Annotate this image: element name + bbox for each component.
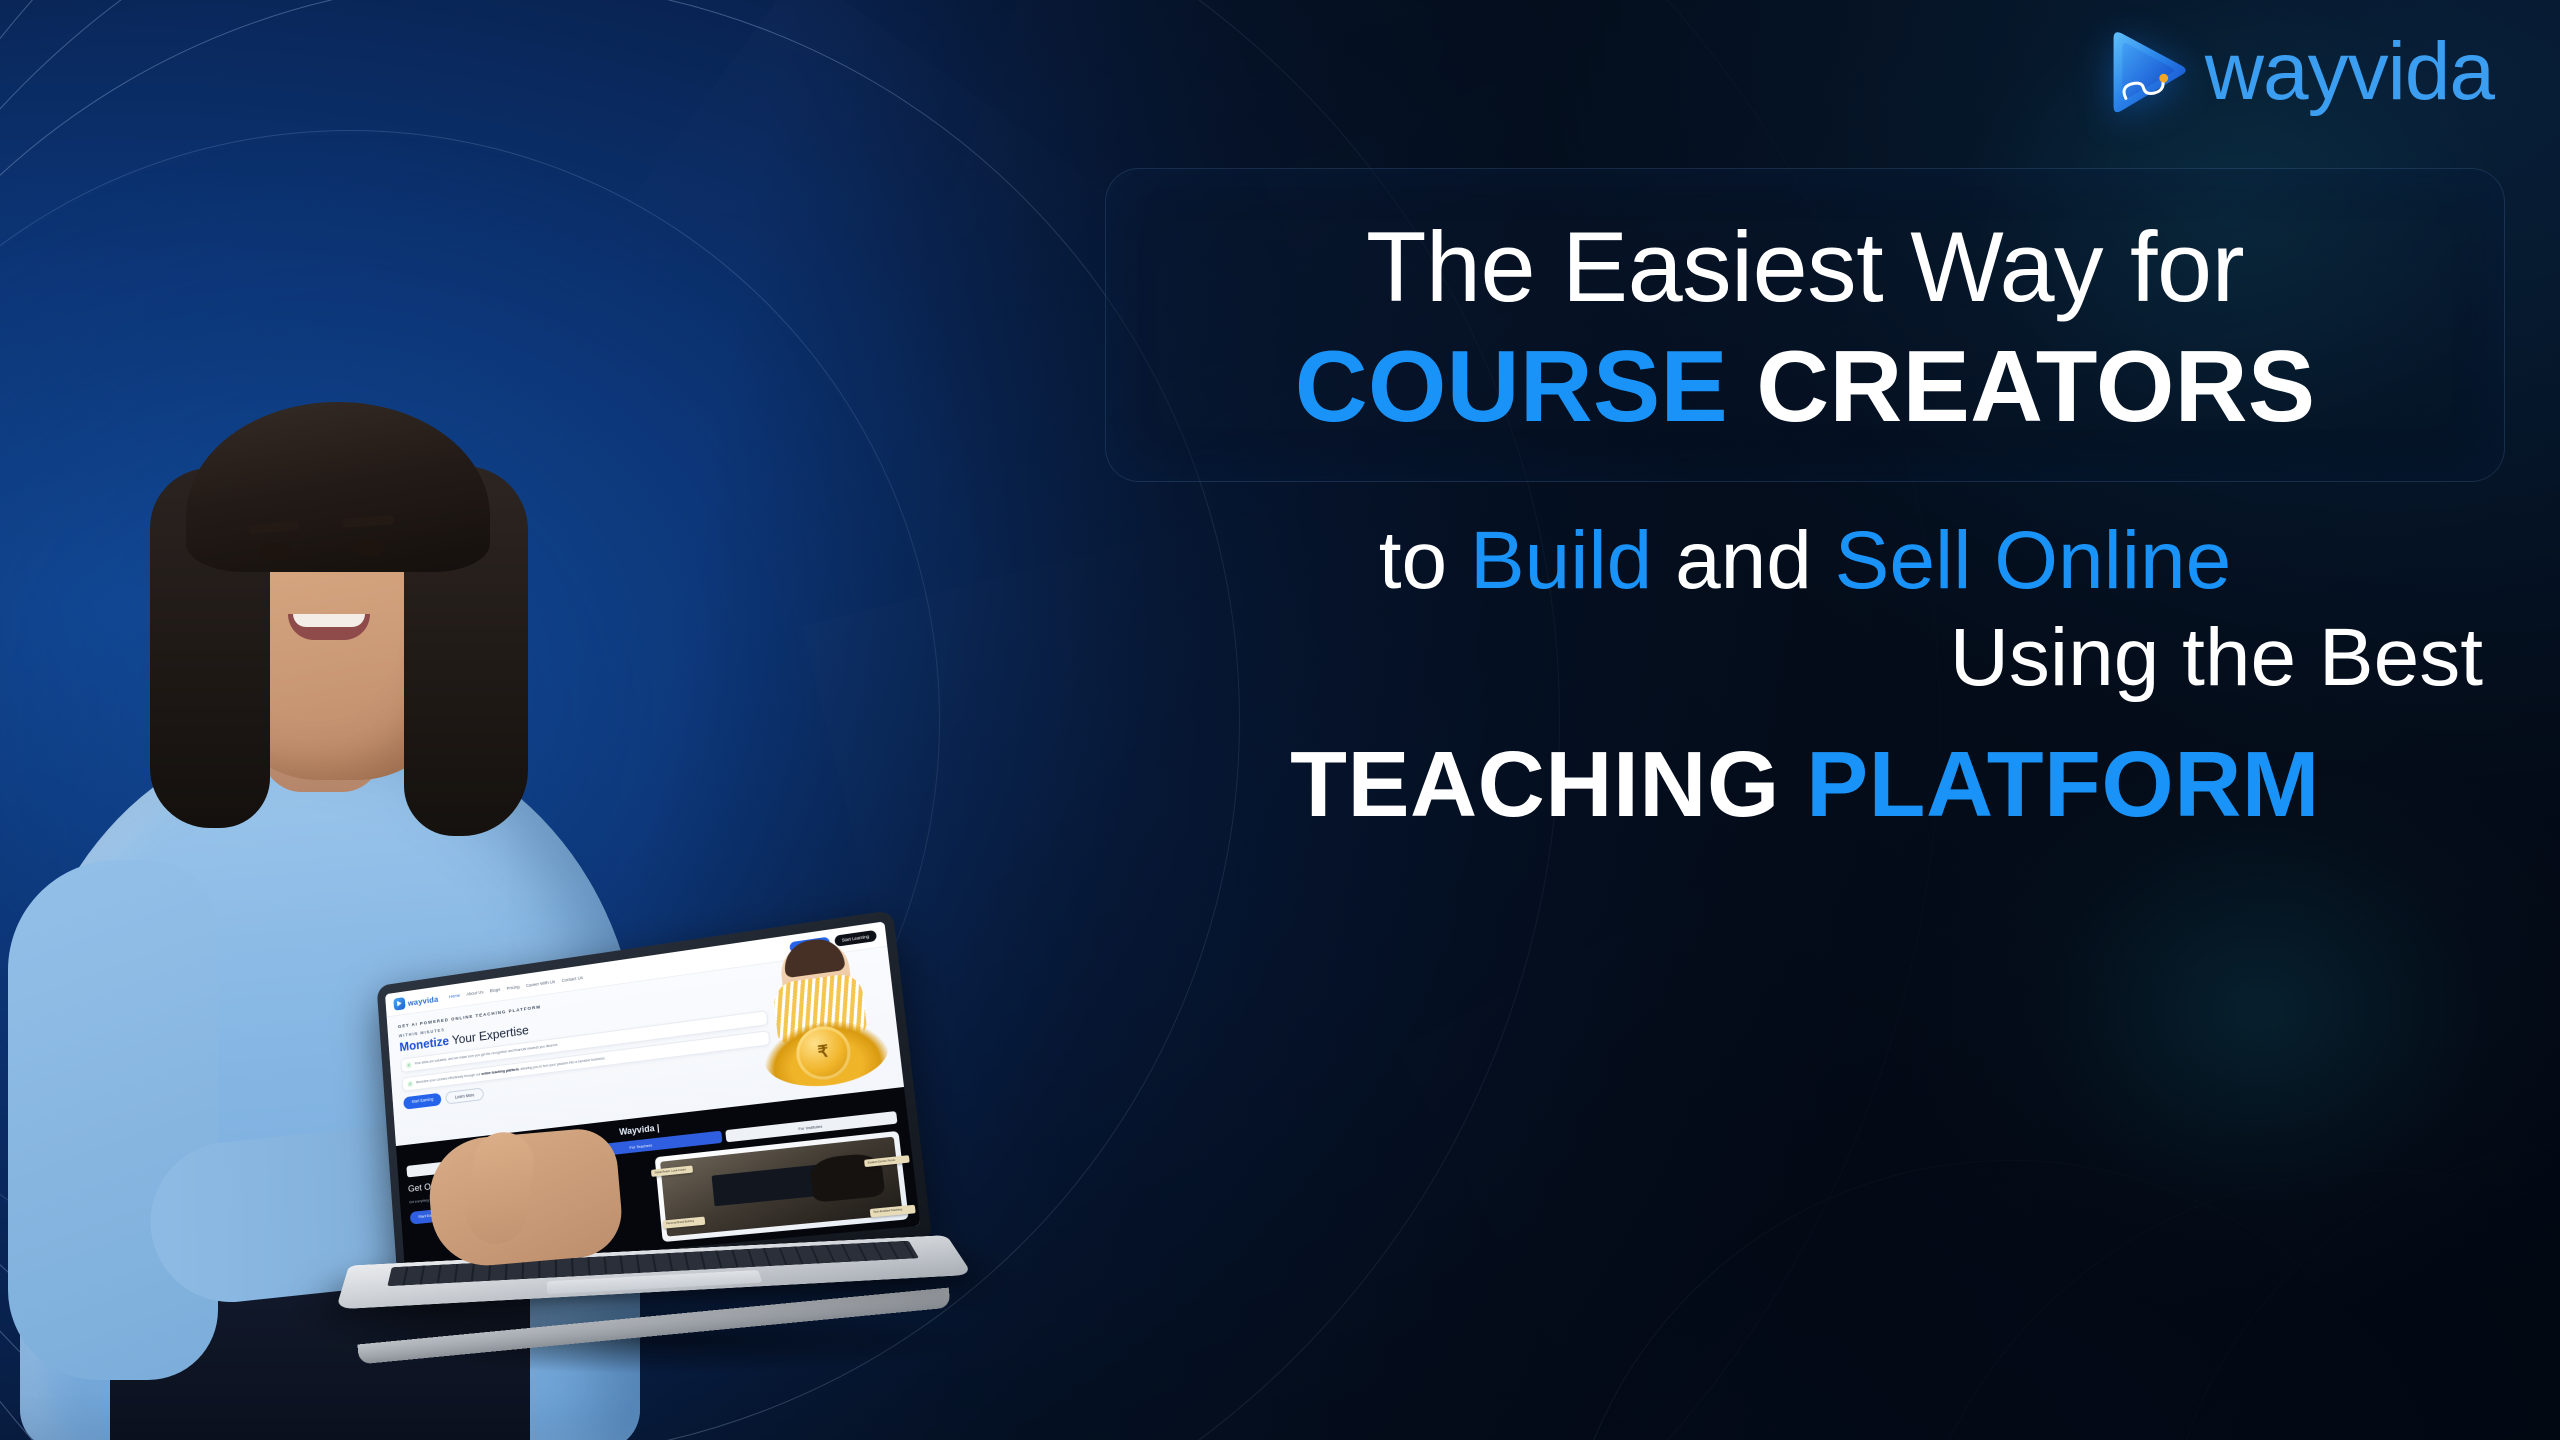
- laptop-device: wayvida Home About Us Blogs Pricing Care…: [355, 928, 955, 1348]
- headline-course: COURSE: [1295, 331, 1728, 443]
- site-nav-item-career[interactable]: Career With Us: [526, 979, 556, 988]
- hero-illustration: ₹: [744, 928, 897, 1095]
- site-nav-item-about[interactable]: About Us: [466, 989, 483, 996]
- brand-wordmark: wayvida: [2205, 31, 2494, 113]
- mouth: [288, 614, 370, 640]
- headline-teaching: TEACHING: [1290, 732, 1780, 836]
- brand-logo[interactable]: wayvida: [2103, 26, 2494, 118]
- headline-sell-online: Sell Online: [1835, 515, 2232, 606]
- check-circle-icon: ✓: [407, 1081, 413, 1087]
- headline-line-5: TEACHING PLATFORM: [1105, 736, 2505, 833]
- site-nav-item-pricing[interactable]: Pricing: [506, 984, 519, 991]
- headline-panel: The Easiest Way for COURSE CREATORS: [1105, 168, 2505, 482]
- headline-to: to: [1379, 515, 1470, 606]
- headline-build: Build: [1470, 515, 1652, 606]
- headline-and: and: [1652, 515, 1834, 606]
- hero-learn-more-button[interactable]: Learn More: [446, 1087, 485, 1104]
- site-nav-item-contact[interactable]: Contact Us: [561, 975, 583, 983]
- headline-line-4: Using the Best: [1105, 615, 2505, 702]
- site-nav-item-blogs[interactable]: Blogs: [490, 987, 501, 993]
- dark-section-photo-card: Global Reach, Local Impact Student-Centr…: [655, 1131, 909, 1242]
- site-nav-item-home[interactable]: Home: [449, 993, 460, 999]
- headline-creators: CREATORS: [1756, 331, 2315, 443]
- banner-stage: wayvida Home About Us Blogs Pricing Care…: [0, 0, 2560, 1440]
- headline-line-1: The Easiest Way for: [1136, 217, 2474, 318]
- headline-line-2: COURSE CREATORS: [1136, 334, 2474, 441]
- site-logo-text: wayvida: [407, 994, 438, 1008]
- arm-left: [8, 860, 218, 1380]
- headline-line-3: to Build and Sell Online: [1105, 518, 2505, 605]
- play-triangle-icon: [393, 997, 405, 1011]
- play-triangle-road-icon: [2103, 26, 2191, 118]
- check-circle-icon: ✓: [406, 1062, 412, 1068]
- site-logo[interactable]: wayvida: [393, 992, 439, 1011]
- eye-left: [258, 543, 292, 560]
- hair-top: [186, 402, 490, 572]
- hero-start-earning-button[interactable]: Start Earning: [403, 1093, 442, 1110]
- eye-right: [352, 539, 386, 556]
- headline-block: The Easiest Way for COURSE CREATORS to B…: [1105, 168, 2505, 833]
- headline-platform: PLATFORM: [1806, 732, 2320, 836]
